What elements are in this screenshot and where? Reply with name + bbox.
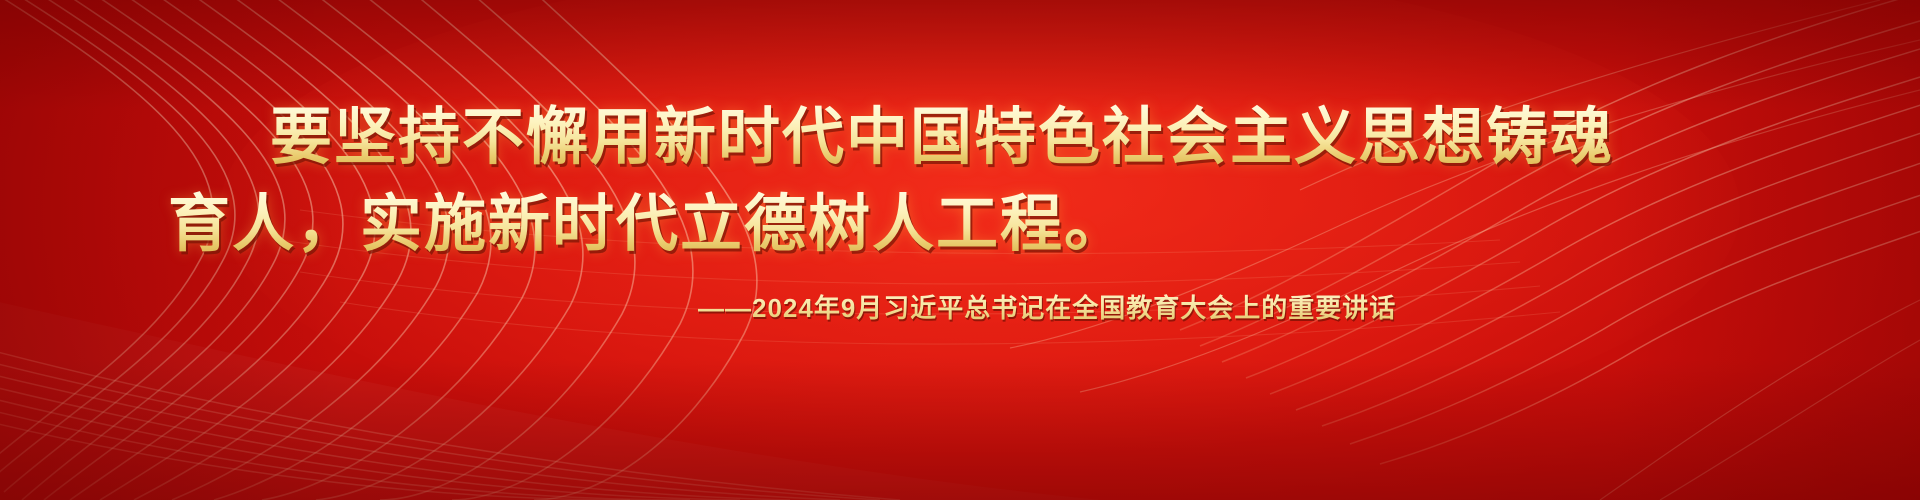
quote-attribution: ——2024年9月习近平总书记在全国教育大会上的重要讲话 bbox=[698, 288, 1396, 325]
quote-line-1: 要坚持不懈用新时代中国特色社会主义思想铸魂 bbox=[270, 103, 1614, 173]
quote-line-2: 育人，实施新时代立德树人工程。 bbox=[168, 190, 1128, 260]
propaganda-banner: 要坚持不懈用新时代中国特色社会主义思想铸魂 育人，实施新时代立德树人工程。 ——… bbox=[0, 0, 1920, 500]
banner-content: 要坚持不懈用新时代中国特色社会主义思想铸魂 育人，实施新时代立德树人工程。 ——… bbox=[0, 0, 1920, 500]
